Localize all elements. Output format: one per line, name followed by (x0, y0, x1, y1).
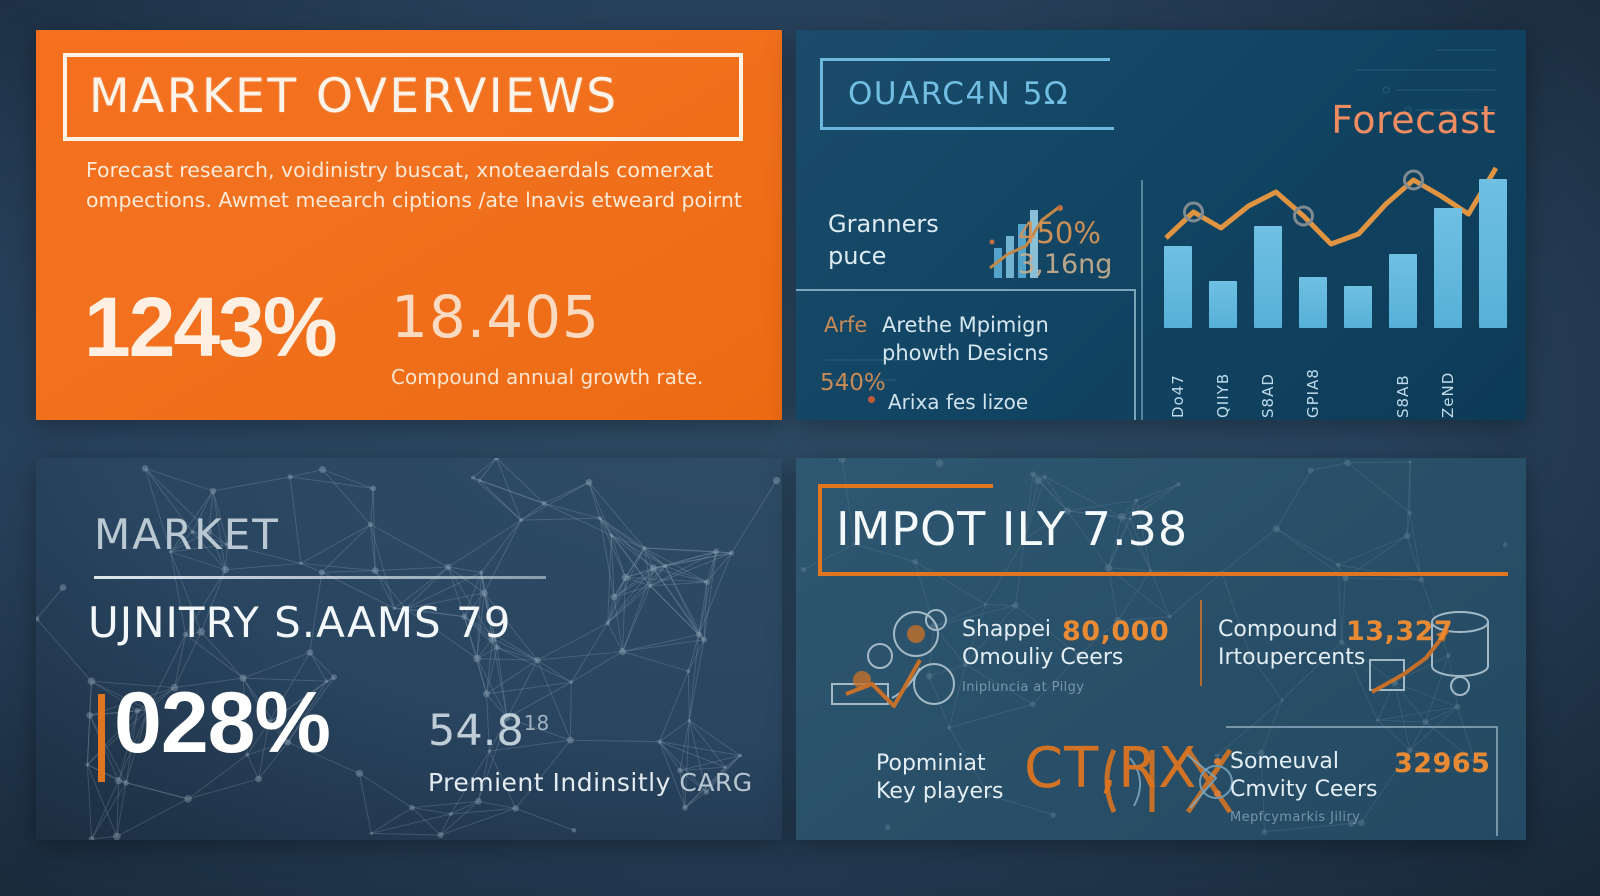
impact-cell-2-label-line2: Key players (876, 779, 1004, 804)
market-overview-big-number: 1243% (84, 285, 336, 369)
market-industry-title-main: UJNITRY S.AAMS 79 (88, 598, 511, 647)
forecast-bar-label: QIIYB (1214, 334, 1232, 418)
market-industry-rule (94, 576, 546, 579)
impact-cell-3-label: Someuval Cmvity Ceers (1230, 748, 1378, 804)
panel-market-overview: MARKET OVERVIEWS Forecast research, void… (36, 30, 782, 420)
forecast-bar-label: S8AD (1259, 334, 1277, 418)
quarterly-sub-line3: Arixa fes lizoe (888, 390, 1028, 414)
quarterly-sub-bullet (868, 396, 875, 403)
forecast-bar (1254, 226, 1282, 328)
forecast-bar-label: Do47 (1169, 334, 1187, 418)
forecast-bar-label: S8AB (1394, 334, 1412, 418)
granners-value-secondary: 3,16ng (1018, 248, 1112, 282)
impact-cell-3-label-line2: Cmvity Ceers (1230, 777, 1378, 802)
market-industry-secondary-number: 54.818 (428, 706, 549, 756)
impact-cell-1-label: Compound Irtoupercents (1218, 616, 1365, 672)
quarterly-sub-title: Arethe Mpimign (882, 313, 1049, 337)
panel-quarterly-forecast: OUARC4N 5Ω Forecast Granners puce 450% 3… (796, 30, 1526, 420)
impact-cell-3-sub: Mepfcymarkis Jiliry (1230, 810, 1360, 825)
granners-label: Granners puce (828, 208, 939, 272)
impact-cell-0-label-line2: Omouliy Ceers (962, 645, 1123, 670)
impact-divider-vertical-top (1200, 600, 1202, 686)
market-industry-accent-bar (98, 694, 105, 782)
impact-cell-1-label-line2: Irtoupercents (1218, 645, 1365, 670)
forecast-chart: Do47QIIYBS8ADGPIA8S8ABZeND (1156, 150, 1516, 420)
forecast-bar (1479, 179, 1507, 328)
impact-cell-2-value: CT,RX (1024, 736, 1197, 801)
forecast-bar (1299, 277, 1327, 328)
forecast-label: Forecast (1331, 98, 1496, 142)
market-industry-title-top: MARKET (94, 510, 280, 559)
infographic-canvas: MARKET OVERVIEWS Forecast research, void… (0, 0, 1600, 896)
impact-cell-0-label-line1: Shappei (962, 617, 1051, 642)
secondary-number-value: 54.8 (428, 706, 524, 756)
quarterly-title: OUARC4N 5Ω (848, 76, 1069, 112)
market-overview-title: MARKET OVERVIEWS (89, 69, 619, 124)
forecast-bar-label: ZeND (1439, 334, 1457, 418)
impact-cell-3-label-line1: Someuval (1230, 749, 1339, 774)
quarterly-sub-number: 540% (820, 370, 886, 396)
impact-cell-2-label-line1: Popminiat (876, 751, 986, 776)
impact-cell-3-value: 32965 (1394, 748, 1490, 779)
market-overview-secondary-number: 18.405 (391, 288, 600, 346)
caption-dim: CARG (679, 768, 752, 797)
forecast-bar (1389, 254, 1417, 328)
forecast-bar (1209, 281, 1237, 328)
impact-cell-3-bullet-2 (1214, 790, 1221, 797)
impact-frame-top (818, 484, 993, 488)
market-industry-caption: Premient Indinsitly CARG (428, 768, 753, 797)
impact-cell-1-value: 13,327 (1346, 616, 1453, 647)
market-overview-secondary-caption: Compound annual growth rate. (391, 365, 703, 389)
gear-analytics-icon (824, 598, 964, 708)
panel-market-industry: MARKET UJNITRY S.AAMS 79 028% 54.818 Pre… (36, 458, 782, 840)
secondary-number-sup: 18 (524, 711, 549, 735)
impact-title: IMPOT ILY 7.38 (836, 502, 1188, 556)
forecast-bar (1344, 286, 1372, 329)
impact-cell-3-bullet-1 (1214, 758, 1221, 765)
quarterly-frame-bottom (820, 127, 1114, 130)
impact-cell-0-sub: Inipluncia at Pilgy (962, 680, 1084, 695)
caption-primary: Premient Indinsitly (428, 768, 671, 797)
forecast-bar (1434, 208, 1462, 328)
impact-cell-0-value: 80,000 (1062, 616, 1169, 647)
quarterly-sub-title-orange: Arfe (824, 313, 867, 337)
granners-value: 450% (1018, 215, 1101, 251)
market-overview-title-frame: MARKET OVERVIEWS (63, 53, 743, 141)
forecast-bar (1164, 246, 1192, 328)
chart-y-axis (1141, 180, 1143, 420)
market-overview-body: Forecast research, voidinistry buscat, x… (86, 155, 758, 215)
market-industry-big-number: 028% (114, 680, 330, 766)
quarterly-sub-line2: phowth Desicns (882, 341, 1049, 365)
impact-cell-1-label-line1: Compound (1218, 617, 1338, 642)
panel-impact-metrics: IMPOT ILY 7.38 (796, 458, 1526, 840)
forecast-bar-label: GPIA8 (1304, 334, 1322, 418)
impact-cell-2-label: Popminiat Key players (876, 750, 1004, 806)
